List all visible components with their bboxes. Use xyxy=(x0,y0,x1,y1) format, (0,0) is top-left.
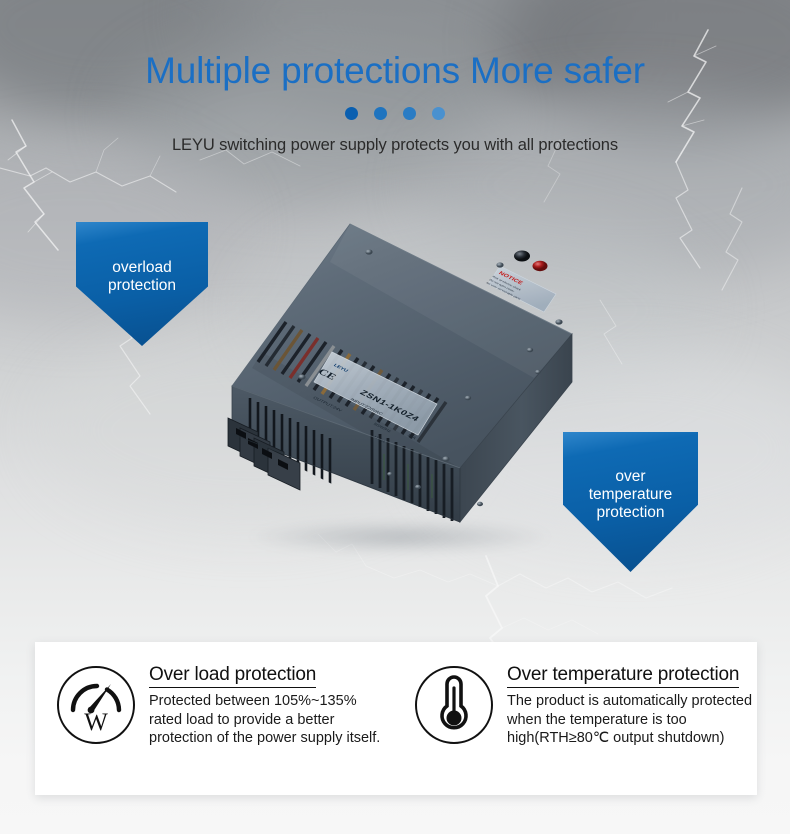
feature-body-over-temperature: The product is automatically protected w… xyxy=(507,692,757,747)
page-title: Multiple protections More safer xyxy=(0,0,790,89)
feature-heading-over-temperature: Over temperature protection xyxy=(507,664,739,688)
adjust-knob-red xyxy=(533,261,548,271)
feature-text-over-temperature: Over temperature protection The product … xyxy=(493,664,757,795)
badge-overtemp-line3: protection xyxy=(596,504,664,521)
feature-heading-over-load: Over load protection xyxy=(149,664,316,688)
product-image-power-supply: LEYU CE ZSN1-1K0Z4 INPUT:220VAC OUTPUT:2… xyxy=(222,222,590,554)
thermometer-icon xyxy=(415,666,493,744)
badge-overload-line2: protection xyxy=(108,277,176,294)
dot-separator xyxy=(0,107,790,120)
banner-header: Multiple protections More safer LEYU swi… xyxy=(0,0,790,155)
badge-overtemp-line2: temperature xyxy=(589,486,673,503)
gauge-watt-letter: W xyxy=(59,710,133,735)
promo-banner: Multiple protections More safer LEYU swi… xyxy=(0,0,790,834)
dot-3 xyxy=(403,107,416,120)
page-subtitle: LEYU switching power supply protects you… xyxy=(0,136,790,155)
feature-text-over-load: Over load protection Protected between 1… xyxy=(135,664,381,795)
badge-overtemp-line1: over xyxy=(615,468,645,485)
feature-card-container: W Over load protection Protected between… xyxy=(35,642,757,795)
psu-illustration: LEYU CE ZSN1-1K0Z4 INPUT:220VAC OUTPUT:2… xyxy=(222,222,590,554)
dot-2 xyxy=(374,107,387,120)
adjust-knob-black xyxy=(514,251,530,262)
dot-1 xyxy=(345,107,358,120)
gauge-watt-icon: W xyxy=(57,666,135,744)
feature-body-over-load: Protected between 105%~135% rated load t… xyxy=(149,692,381,747)
feature-over-load-protection: W Over load protection Protected between… xyxy=(35,642,407,795)
dot-4 xyxy=(432,107,445,120)
feature-over-temperature-protection: Over temperature protection The product … xyxy=(407,642,757,795)
badge-overload-line1: overload xyxy=(112,259,171,276)
